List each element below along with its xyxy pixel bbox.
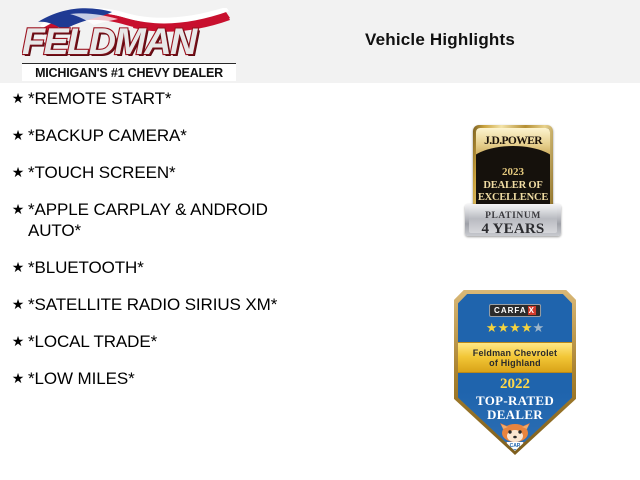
star-bullet-icon: ★ <box>8 125 28 146</box>
list-item: ★ *BACKUP CAMERA* <box>8 125 338 146</box>
list-item-label: *LOW MILES* <box>28 368 135 389</box>
star-icon: ★ <box>486 320 498 335</box>
feldman-tagline: MICHIGAN'S #1 CHEVY DEALER <box>22 63 236 81</box>
feldman-logo: FELDMAN MICHIGAN'S #1 CHEVY DEALER <box>22 8 236 80</box>
page-title: Vehicle Highlights <box>300 30 580 50</box>
jd-power-award-line-2: EXCELLENCE <box>476 192 550 203</box>
jd-power-plaque-inner: J.D.POWER 2023 DEALER OF EXCELLENCE <box>476 128 550 212</box>
feldman-wordmark-text: FELDMAN <box>22 22 236 62</box>
carfax-logo-accent: X <box>528 306 536 315</box>
list-item: ★ *LOCAL TRADE* <box>8 331 338 352</box>
jd-power-award-badge: J.D.POWER 2023 DEALER OF EXCELLENCE PLAT… <box>465 125 561 236</box>
jd-power-tier: PLATINUM <box>469 211 557 221</box>
jd-power-year: 2023 <box>476 166 550 178</box>
jd-power-duration: 4 YEARS <box>469 221 557 238</box>
list-item-label: *LOCAL TRADE* <box>28 331 157 352</box>
list-item-label: *BLUETOOTH* <box>28 257 144 278</box>
star-bullet-icon: ★ <box>8 88 28 109</box>
star-bullet-icon: ★ <box>8 331 28 352</box>
carfax-shield-face: CARFAX ★★★★★ Feldman Chevrolet of Highla… <box>458 294 572 451</box>
carfax-dealer-ribbon: Feldman Chevrolet of Highland <box>458 342 572 373</box>
list-item-label: *SATELLITE RADIO SIRIUS XM* <box>28 294 277 315</box>
jd-power-base: PLATINUM 4 YEARS <box>465 204 561 236</box>
star-bullet-icon: ★ <box>8 294 28 315</box>
jd-power-plaque: J.D.POWER 2023 DEALER OF EXCELLENCE <box>473 125 553 215</box>
list-item: ★ *APPLE CARPLAY & ANDROID AUTO* <box>8 199 338 241</box>
list-item-label: *BACKUP CAMERA* <box>28 125 187 146</box>
star-icon: ★ <box>509 320 521 335</box>
star-icon-dim: ★ <box>532 320 544 335</box>
list-item: ★ *SATELLITE RADIO SIRIUS XM* <box>8 294 338 315</box>
list-item-label: *TOUCH SCREEN* <box>28 162 176 183</box>
star-icon: ★ <box>521 320 533 335</box>
carfax-dealer-name-line-2: of Highland <box>458 358 572 368</box>
star-bullet-icon: ★ <box>8 162 28 183</box>
list-item: ★ *LOW MILES* <box>8 368 338 389</box>
jd-power-base-inner: PLATINUM 4 YEARS <box>469 207 557 233</box>
carfax-star-rating: ★★★★★ <box>458 320 572 336</box>
list-item-label: *APPLE CARPLAY & ANDROID AUTO* <box>28 199 300 241</box>
jd-power-award-line-1: DEALER OF <box>476 180 550 191</box>
vehicle-highlights-list: ★ *REMOTE START* ★ *BACKUP CAMERA* ★ *TO… <box>8 88 338 405</box>
carfax-logo: CARFAX <box>489 304 541 317</box>
jd-power-brand-text: J.D.POWER <box>476 135 550 147</box>
carfax-award-year: 2022 <box>458 376 572 393</box>
list-item: ★ *TOUCH SCREEN* <box>8 162 338 183</box>
star-bullet-icon: ★ <box>8 368 28 389</box>
star-icon: ★ <box>498 320 510 335</box>
carfax-dealer-name-line-1: Feldman Chevrolet <box>458 348 572 358</box>
list-item: ★ *BLUETOOTH* <box>8 257 338 278</box>
carfax-logo-text: CARFA <box>494 306 527 315</box>
list-item: ★ *REMOTE START* <box>8 88 338 109</box>
feldman-tagline-text: MICHIGAN'S #1 CHEVY DEALER <box>35 66 223 80</box>
list-item-label: *REMOTE START* <box>28 88 171 109</box>
feldman-wordmark: FELDMAN <box>22 22 236 62</box>
carfax-top-rated-dealer-badge: CARFAX ★★★★★ Feldman Chevrolet of Highla… <box>454 290 576 455</box>
star-bullet-icon: ★ <box>8 199 28 220</box>
star-bullet-icon: ★ <box>8 257 28 278</box>
